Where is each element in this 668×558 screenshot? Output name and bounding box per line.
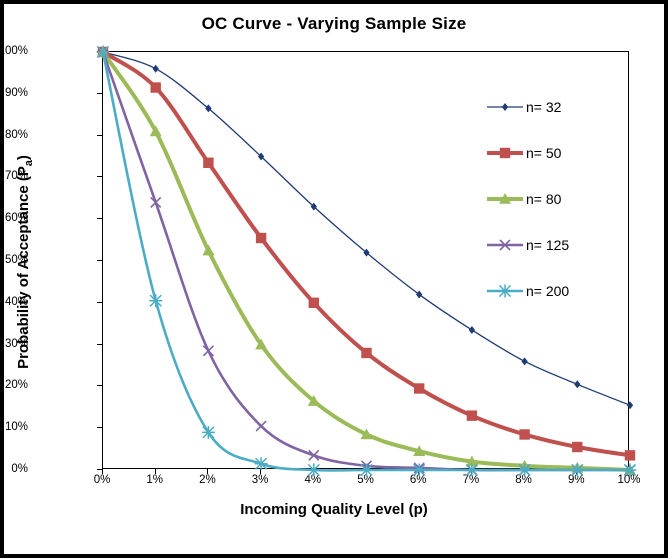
data-point-marker xyxy=(467,410,477,420)
legend-marker-icon xyxy=(486,190,524,208)
data-point-marker xyxy=(413,464,426,477)
data-point-marker xyxy=(255,457,268,470)
legend-marker-icon xyxy=(486,282,524,300)
x-axis-tick-label: 2% xyxy=(199,474,216,486)
y-axis-tick-label: 30% xyxy=(5,338,28,350)
data-point-marker xyxy=(203,158,213,168)
data-point-marker xyxy=(499,285,512,298)
data-point-marker xyxy=(205,104,211,112)
data-point-marker xyxy=(151,82,161,92)
x-axis-tick-label: 3% xyxy=(252,474,269,486)
y-axis-tick-label: 60% xyxy=(5,212,28,224)
data-point-marker xyxy=(572,442,582,452)
data-point-marker xyxy=(500,148,510,158)
y-axis-tick-label: 0% xyxy=(11,463,28,475)
y-axis-title-subscript: a xyxy=(23,160,35,166)
legend-marker-icon xyxy=(486,98,524,116)
data-point-marker xyxy=(97,46,110,59)
data-point-marker xyxy=(465,464,478,477)
data-point-marker xyxy=(625,450,635,460)
data-point-marker xyxy=(469,326,475,334)
legend-item-label: n= 32 xyxy=(524,99,561,115)
legend-swatch-icon xyxy=(486,190,524,208)
x-axis-tick-label: 10% xyxy=(617,474,640,486)
data-point-marker xyxy=(414,383,424,393)
data-point-marker xyxy=(574,380,580,388)
legend-item-label: n= 80 xyxy=(524,191,561,207)
data-point-marker xyxy=(502,103,508,111)
x-axis-title: Incoming Quality Level (p) xyxy=(4,501,664,518)
legend-item-label: n= 200 xyxy=(524,283,569,299)
data-point-marker xyxy=(256,233,266,243)
y-axis-tick-label: 20% xyxy=(5,379,28,391)
chart-container: OC Curve - Varying Sample Size Probabili… xyxy=(0,0,668,558)
y-axis-tick-label: 10% xyxy=(5,421,28,433)
data-point-marker xyxy=(521,357,527,365)
data-point-marker xyxy=(360,464,373,477)
legend-swatch-icon xyxy=(486,144,524,162)
data-point-marker xyxy=(149,294,162,307)
y-axis-title-tail: ) xyxy=(15,155,32,160)
data-point-marker xyxy=(256,421,266,431)
data-point-marker xyxy=(202,426,215,439)
legend-item-n-32[interactable]: n= 32 xyxy=(486,84,616,130)
data-point-marker xyxy=(307,464,320,477)
y-axis-tick-label: 40% xyxy=(5,296,28,308)
data-point-marker xyxy=(363,249,369,257)
y-axis-tick-label: 50% xyxy=(5,254,28,266)
y-axis-tick-label: 100% xyxy=(0,45,28,57)
data-point-marker xyxy=(153,65,159,73)
chart-title: OC Curve - Varying Sample Size xyxy=(4,14,664,34)
data-point-marker xyxy=(361,348,371,358)
data-point-marker xyxy=(203,346,213,356)
legend-marker-icon xyxy=(486,236,524,254)
data-point-marker xyxy=(518,464,531,477)
data-point-marker xyxy=(571,464,584,477)
legend-item-n-50[interactable]: n= 50 xyxy=(486,130,616,176)
data-point-marker xyxy=(416,290,422,298)
legend-swatch-icon xyxy=(486,98,524,116)
legend-item-label: n= 50 xyxy=(524,145,561,161)
data-point-marker xyxy=(309,298,319,308)
legend-item-n-80[interactable]: n= 80 xyxy=(486,176,616,222)
y-axis-tick-label: 90% xyxy=(5,87,28,99)
legend-item-label: n= 125 xyxy=(524,237,569,253)
legend-item-n-200[interactable]: n= 200 xyxy=(486,268,616,314)
legend-swatch-icon xyxy=(486,236,524,254)
legend-item-n-125[interactable]: n= 125 xyxy=(486,222,616,268)
data-point-marker xyxy=(624,464,637,477)
y-axis-tick-label: 70% xyxy=(5,170,28,182)
legend-swatch-icon xyxy=(486,282,524,300)
y-axis-tick-label: 80% xyxy=(5,129,28,141)
x-axis-tick-label: 0% xyxy=(94,474,111,486)
data-point-marker xyxy=(519,429,529,439)
data-point-marker xyxy=(627,401,633,409)
legend-marker-icon xyxy=(486,144,524,162)
chart-legend: n= 32n= 50n= 80n= 125n= 200 xyxy=(486,84,616,314)
x-axis-tick-label: 1% xyxy=(146,474,163,486)
